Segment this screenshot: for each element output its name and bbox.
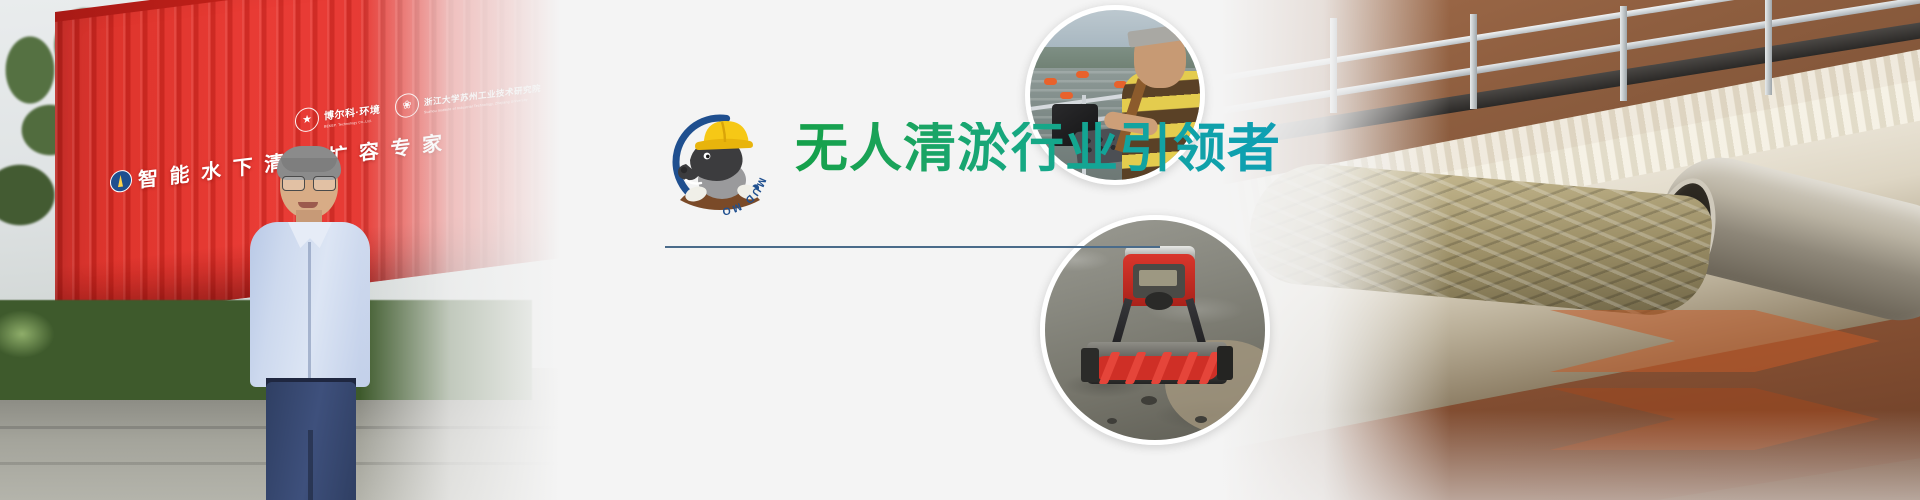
person-leg-split — [308, 430, 313, 500]
eyeglasses-icon — [282, 176, 336, 189]
page-title: 无人清淤行业引领者 — [795, 122, 1281, 175]
handrail-post — [1620, 6, 1627, 101]
right-photo-bottom-fade — [1220, 410, 1920, 500]
divider-rule — [665, 246, 1160, 248]
handrail-post — [1470, 14, 1477, 109]
slogan-badge-icon — [110, 168, 132, 193]
left-photo: ★ 博尔科·环境 BEKEP. Technology Co.,Ltd. ❀ 浙江… — [0, 0, 560, 500]
hero-banner: ★ 博尔科·环境 BEKEP. Technology Co.,Ltd. ❀ 浙江… — [0, 0, 1920, 500]
person-hair — [277, 146, 341, 180]
person-figure — [250, 150, 370, 500]
center-content: MUD MOLE 无人清淤行业引领者 — [520, 0, 1220, 500]
logo-mole-nose — [681, 167, 687, 173]
person-shirt-placket — [308, 242, 311, 382]
right-photo — [1220, 0, 1920, 500]
logo-mole-pupil — [706, 155, 710, 159]
handrail-post — [1765, 0, 1772, 95]
chevron-arrow-icon — [1550, 310, 1880, 372]
brand-seal-icon: ★ — [295, 106, 319, 133]
mud-mole-logo: MUD MOLE — [660, 104, 780, 224]
person-mouth — [298, 202, 318, 208]
